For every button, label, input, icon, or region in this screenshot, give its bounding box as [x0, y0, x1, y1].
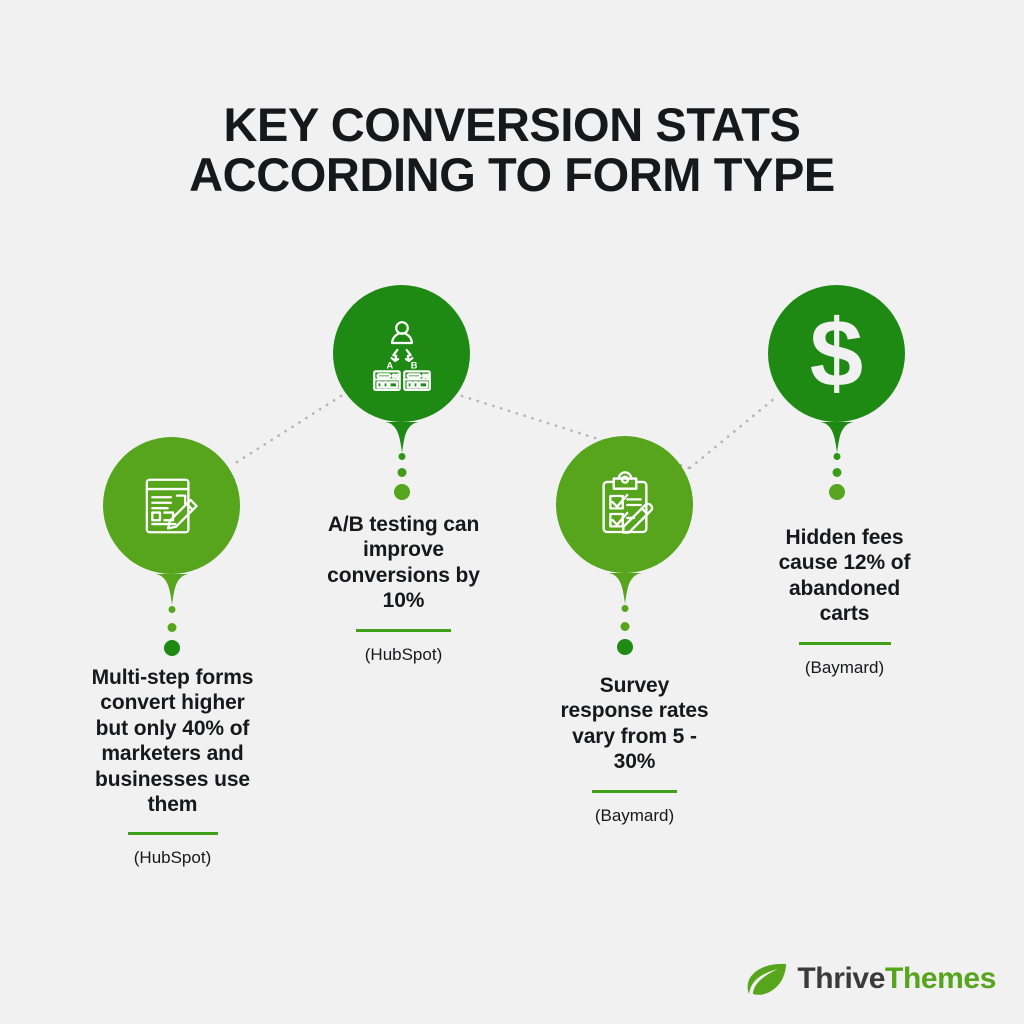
- stat-text-ab-testing: A/B testing can improve conversions by 1…: [321, 512, 486, 665]
- stat-text-survey-response: Survey response rates vary from 5 - 30% …: [552, 673, 717, 826]
- pin-tail-3: [604, 573, 646, 605]
- stat-text-multi-step-forms: Multi-step forms convert higher but only…: [90, 665, 255, 868]
- pin-circle-1[interactable]: [103, 437, 240, 574]
- pin-circle-2[interactable]: A B: [333, 285, 470, 422]
- pin-tail-1: [151, 574, 193, 606]
- pin-dot-1-b: [167, 623, 176, 632]
- stat-source-4: (Baymard): [762, 658, 927, 678]
- pin-dot-3-c: [617, 639, 633, 655]
- stat-source-3: (Baymard): [552, 806, 717, 826]
- pin-dot-3-b: [620, 622, 629, 631]
- pin-dot-4-b: [832, 468, 841, 477]
- stat-rule-1: [128, 832, 218, 835]
- pin-dot-3-a: [621, 605, 628, 612]
- logo-text-themes: Themes: [885, 962, 996, 995]
- pin-dot-4-c: [829, 484, 845, 500]
- pin-tail-4: [816, 422, 858, 454]
- pin-dot-1-a: [168, 606, 175, 613]
- stat-source-1: (HubSpot): [90, 848, 255, 868]
- thrive-themes-logo[interactable]: ThriveThemes: [746, 962, 996, 996]
- pin-circle-3[interactable]: [556, 436, 693, 573]
- stat-text-hidden-fees: Hidden fees cause 12% of abandoned carts…: [762, 525, 927, 678]
- svg-text:B: B: [410, 360, 417, 370]
- stat-rule-4: [799, 642, 891, 645]
- title-line-1: KEY CONVERSION STATS: [0, 100, 1024, 150]
- stat-rule-3: [592, 790, 677, 793]
- stat-headline-1: Multi-step forms convert higher but only…: [90, 665, 255, 817]
- pin-dot-2-a: [398, 453, 405, 460]
- pin-survey-response[interactable]: [556, 436, 693, 573]
- pin-dot-1-c: [164, 640, 180, 656]
- stat-rule-2: [356, 629, 451, 632]
- pin-hidden-fees[interactable]: $: [768, 285, 905, 422]
- clipboard-checklist-pencil-icon: [589, 469, 661, 541]
- connector-1-2: [237, 396, 341, 462]
- pin-ab-testing[interactable]: A B: [333, 285, 470, 422]
- ab-testing-icon: A B: [365, 317, 439, 391]
- pin-dot-2-c: [394, 484, 410, 500]
- connector-3-4: [690, 398, 775, 468]
- stat-headline-2: A/B testing can improve conversions by 1…: [321, 512, 486, 614]
- pin-dot-2-b: [397, 468, 406, 477]
- title-line-2: ACCORDING TO FORM TYPE: [0, 150, 1024, 200]
- pin-dot-4-a: [833, 453, 840, 460]
- stat-headline-3: Survey response rates vary from 5 - 30%: [552, 673, 717, 775]
- page-title: KEY CONVERSION STATS ACCORDING TO FORM T…: [0, 100, 1024, 200]
- logo-text: ThriveThemes: [797, 964, 996, 994]
- svg-text:A: A: [386, 360, 393, 370]
- dollar-sign-icon: $: [810, 306, 863, 402]
- pin-circle-4[interactable]: $: [768, 285, 905, 422]
- infographic-canvas: KEY CONVERSION STATS ACCORDING TO FORM T…: [0, 0, 1024, 1024]
- stat-source-2: (HubSpot): [321, 645, 486, 665]
- logo-text-thrive: Thrive: [797, 962, 885, 995]
- pin-multi-step-forms[interactable]: [103, 437, 240, 574]
- pin-tail-2: [381, 422, 423, 454]
- form-pencil-icon: [137, 471, 207, 541]
- stat-headline-4: Hidden fees cause 12% of abandoned carts: [762, 525, 927, 627]
- leaf-icon: [746, 962, 788, 996]
